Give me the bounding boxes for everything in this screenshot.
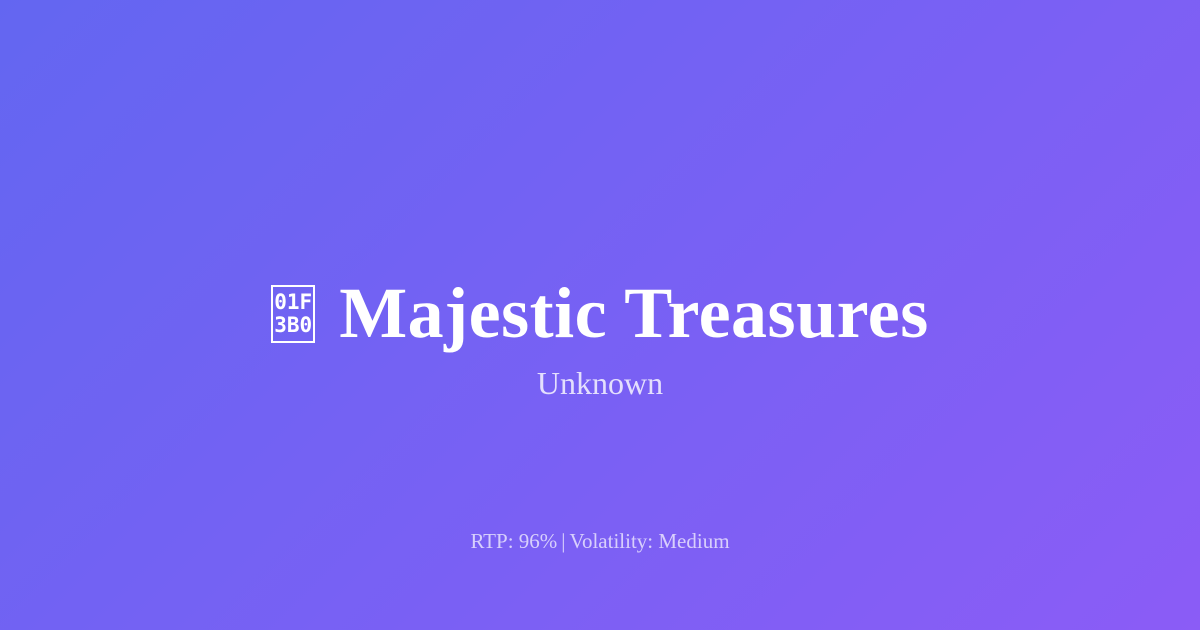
og-share-card: 01F 3B0 Majestic Treasures Unknown RTP: … xyxy=(0,0,1200,630)
tofu-codepoint-bottom: 3B0 xyxy=(274,314,312,337)
tofu-codepoint-top: 01F xyxy=(274,291,312,314)
game-stats: RTP: 96%|Volatility: Medium xyxy=(0,529,1200,554)
game-title: Majestic Treasures xyxy=(339,276,929,352)
slot-machine-icon: 01F 3B0 xyxy=(271,285,315,343)
rtp-stat: RTP: 96% xyxy=(470,529,557,553)
provider-label: Unknown xyxy=(0,364,1200,402)
stats-separator: | xyxy=(557,529,569,553)
volatility-stat: Volatility: Medium xyxy=(570,529,730,553)
